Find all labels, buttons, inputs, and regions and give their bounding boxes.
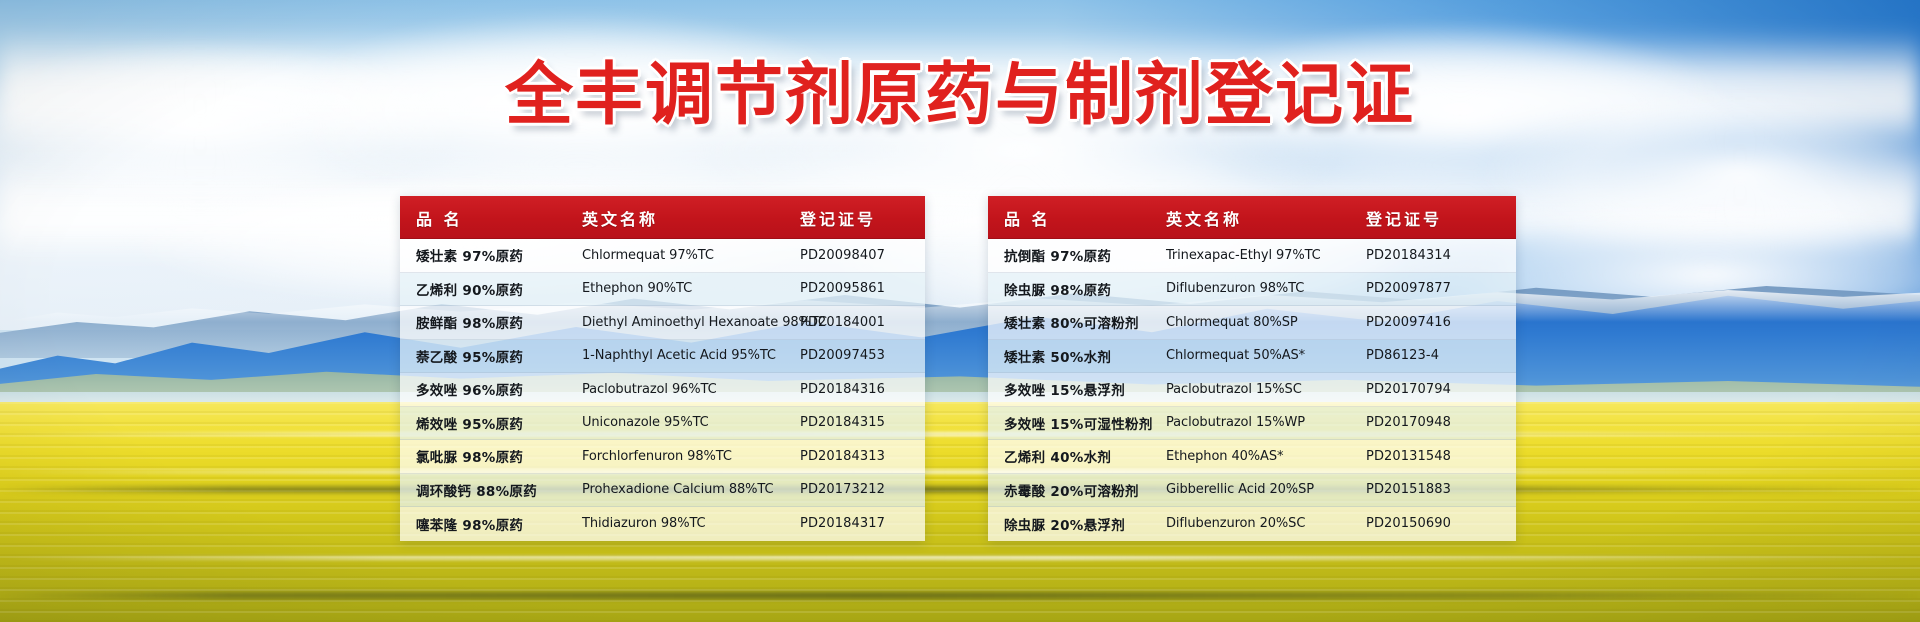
cell-english-name: Gibberellic Acid 20%SP [1166,482,1366,497]
cell-english-name: Prohexadione Calcium 88%TC [582,482,800,497]
table-row: 除虫脲 20%悬浮剂Diflubenzuron 20%SCPD20150690 [988,507,1516,541]
table-row: 矮壮素 50%水剂Chlormequat 50%AS*PD86123-4 [988,340,1516,374]
cell-product-name: 烯效唑 95%原药 [400,413,582,433]
cell-registration-number: PD20184315 [800,415,925,430]
table-row: 多效唑 96%原药Paclobutrazol 96%TCPD20184316 [400,373,925,407]
page-title: 全丰调节剂原药与制剂登记证 [0,62,1920,130]
cell-registration-number: PD20173212 [800,482,925,497]
cell-english-name: Trinexapac-Ethyl 97%TC [1166,248,1366,263]
cell-product-name: 多效唑 15%悬浮剂 [988,379,1166,399]
cell-registration-number: PD20151883 [1366,482,1516,497]
table-row: 矮壮素 80%可溶粉剂Chlormequat 80%SPPD20097416 [988,306,1516,340]
cell-english-name: Diethyl Aminoethyl Hexanoate 98%TC [582,315,800,330]
table-row: 赤霉酸 20%可溶粉剂Gibberellic Acid 20%SPPD20151… [988,474,1516,508]
column-header-english-name: 英文名称 [1166,206,1366,230]
table-row: 矮壮素 97%原药Chlormequat 97%TCPD20098407 [400,239,925,273]
cell-product-name: 多效唑 15%可湿性粉剂 [988,413,1166,433]
column-header-product-name: 品 名 [988,206,1166,230]
cell-english-name: Paclobutrazol 96%TC [582,382,800,397]
table-row: 乙烯利 90%原药Ethephon 90%TCPD20095861 [400,273,925,307]
cell-registration-number: PD20098407 [800,248,925,263]
cell-english-name: Chlormequat 50%AS* [1166,348,1366,363]
tree-line-2 [0,592,1920,599]
cell-product-name: 萘乙酸 95%原药 [400,346,582,366]
table-row: 多效唑 15%悬浮剂Paclobutrazol 15%SCPD20170794 [988,373,1516,407]
column-header-product-name: 品 名 [400,206,582,230]
cell-product-name: 多效唑 96%原药 [400,379,582,399]
cell-registration-number: PD20095861 [800,281,925,296]
cell-product-name: 矮壮素 80%可溶粉剂 [988,312,1166,332]
cell-registration-number: PD86123-4 [1366,348,1516,363]
cell-registration-number: PD20097453 [800,348,925,363]
registration-table-left: 品 名 英文名称 登记证号 矮壮素 97%原药Chlormequat 97%TC… [400,196,925,541]
table-header-row-right: 品 名 英文名称 登记证号 [988,196,1516,239]
table-row: 调环酸钙 88%原药Prohexadione Calcium 88%TCPD20… [400,474,925,508]
cell-english-name: Ethephon 40%AS* [1166,449,1366,464]
column-header-english-name: 英文名称 [582,206,800,230]
cell-registration-number: PD20184001 [800,315,925,330]
cell-registration-number: PD20184314 [1366,248,1516,263]
table-row: 乙烯利 40%水剂Ethephon 40%AS*PD20131548 [988,440,1516,474]
table-body-left: 矮壮素 97%原药Chlormequat 97%TCPD20098407乙烯利 … [400,239,925,541]
registration-table-right: 品 名 英文名称 登记证号 抗倒酯 97%原药Trinexapac-Ethyl … [988,196,1516,541]
cell-registration-number: PD20150690 [1366,516,1516,531]
cell-product-name: 除虫脲 98%原药 [988,279,1166,299]
cell-product-name: 乙烯利 90%原药 [400,279,582,299]
cell-product-name: 矮壮素 97%原药 [400,245,582,265]
tree-line-1 [0,486,1920,493]
column-header-registration: 登记证号 [800,206,925,230]
table-header-row-left: 品 名 英文名称 登记证号 [400,196,925,239]
cell-registration-number: PD20184316 [800,382,925,397]
cell-registration-number: PD20131548 [1366,449,1516,464]
cell-product-name: 胺鲜酯 98%原药 [400,312,582,332]
cell-english-name: Ethephon 90%TC [582,281,800,296]
cell-product-name: 除虫脲 20%悬浮剂 [988,514,1166,534]
table-row: 烯效唑 95%原药Uniconazole 95%TCPD20184315 [400,407,925,441]
table-row: 抗倒酯 97%原药Trinexapac-Ethyl 97%TCPD2018431… [988,239,1516,273]
table-row: 胺鲜酯 98%原药Diethyl Aminoethyl Hexanoate 98… [400,306,925,340]
cell-registration-number: PD20170794 [1366,382,1516,397]
table-row: 多效唑 15%可湿性粉剂Paclobutrazol 15%WPPD2017094… [988,407,1516,441]
cell-product-name: 赤霉酸 20%可溶粉剂 [988,480,1166,500]
cell-english-name: Diflubenzuron 98%TC [1166,281,1366,296]
cell-english-name: Chlormequat 80%SP [1166,315,1366,330]
cell-english-name: Uniconazole 95%TC [582,415,800,430]
field-path-3 [0,556,1920,560]
cell-registration-number: PD20184313 [800,449,925,464]
table-row: 氯吡脲 98%原药Forchlorfenuron 98%TCPD20184313 [400,440,925,474]
table-row: 噻苯隆 98%原药Thidiazuron 98%TCPD20184317 [400,507,925,541]
cell-english-name: Paclobutrazol 15%WP [1166,415,1366,430]
cell-registration-number: PD20097416 [1366,315,1516,330]
cell-product-name: 调环酸钙 88%原药 [400,480,582,500]
cell-english-name: 1-Naphthyl Acetic Acid 95%TC [582,348,800,363]
field-path-1 [0,432,1920,436]
cell-registration-number: PD20184317 [800,516,925,531]
cell-english-name: Diflubenzuron 20%SC [1166,516,1366,531]
cell-product-name: 矮壮素 50%水剂 [988,346,1166,366]
cell-product-name: 噻苯隆 98%原药 [400,514,582,534]
cell-product-name: 抗倒酯 97%原药 [988,245,1166,265]
column-header-registration: 登记证号 [1366,206,1516,230]
table-row: 除虫脲 98%原药Diflubenzuron 98%TCPD20097877 [988,273,1516,307]
cell-product-name: 氯吡脲 98%原药 [400,446,582,466]
cell-english-name: Chlormequat 97%TC [582,248,800,263]
cell-english-name: Thidiazuron 98%TC [582,516,800,531]
table-row: 萘乙酸 95%原药1-Naphthyl Acetic Acid 95%TCPD2… [400,340,925,374]
cell-product-name: 乙烯利 40%水剂 [988,446,1166,466]
field-path-2 [0,470,1920,474]
cell-registration-number: PD20170948 [1366,415,1516,430]
cell-english-name: Paclobutrazol 15%SC [1166,382,1366,397]
cell-english-name: Forchlorfenuron 98%TC [582,449,800,464]
table-body-right: 抗倒酯 97%原药Trinexapac-Ethyl 97%TCPD2018431… [988,239,1516,541]
cell-registration-number: PD20097877 [1366,281,1516,296]
